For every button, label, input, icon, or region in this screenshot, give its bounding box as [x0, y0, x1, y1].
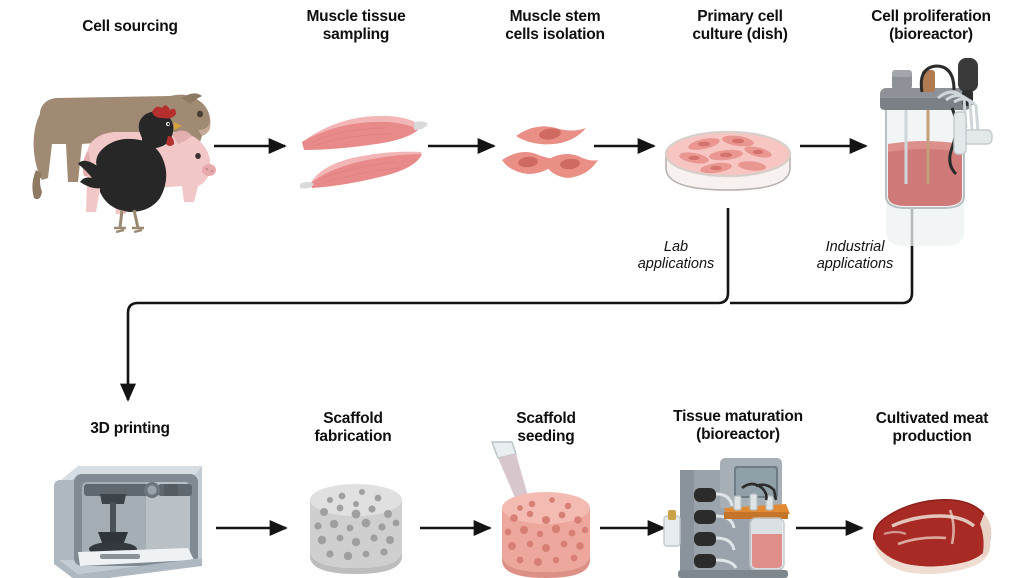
stem-cell-1 — [516, 126, 586, 144]
step-label-cell-sourcing: Cell sourcing — [40, 18, 220, 36]
workflow-diagram: Cell sourcing Muscle tissue sampling Mus… — [0, 0, 1024, 576]
step-label-muscle-tissue: Muscle tissue sampling — [266, 8, 446, 45]
branch-label-lab: Lab applications — [628, 239, 724, 274]
stem-cell-3 — [544, 154, 598, 178]
bioreactor-vessel-icon — [866, 56, 998, 212]
branch-rail-down-to-printing — [128, 303, 138, 400]
petri-dish-icon — [660, 112, 796, 194]
muscle-fibers-icon — [296, 108, 432, 190]
seeded-scaffold-pipette-icon — [486, 438, 604, 578]
step-label-stem-cells: Muscle stem cells isolation — [460, 8, 650, 45]
step-label-cell-proliferation: Cell proliferation (bioreactor) — [838, 8, 1024, 45]
step-label-tissue-maturation: Tissue maturation (bioreactor) — [638, 408, 838, 445]
perfusion-bioreactor-icon — [658, 452, 798, 578]
step-label-3d-printing: 3D printing — [45, 420, 215, 438]
3d-printer-icon — [48, 452, 208, 578]
porous-scaffold-icon — [300, 478, 412, 576]
muscle-fiber-bottom — [300, 152, 422, 189]
muscle-fiber-top — [302, 116, 428, 150]
meat-cut-icon — [862, 486, 998, 578]
stem-cells-icon — [500, 118, 600, 190]
step-label-primary-culture: Primary cell culture (dish) — [650, 8, 830, 45]
step-label-scaffold-fabrication: Scaffold fabrication — [268, 410, 438, 447]
branch-label-industrial: Industrial applications — [800, 239, 910, 274]
farm-animals-icon — [22, 52, 222, 222]
step-label-meat-production: Cultivated meat production — [840, 410, 1024, 447]
